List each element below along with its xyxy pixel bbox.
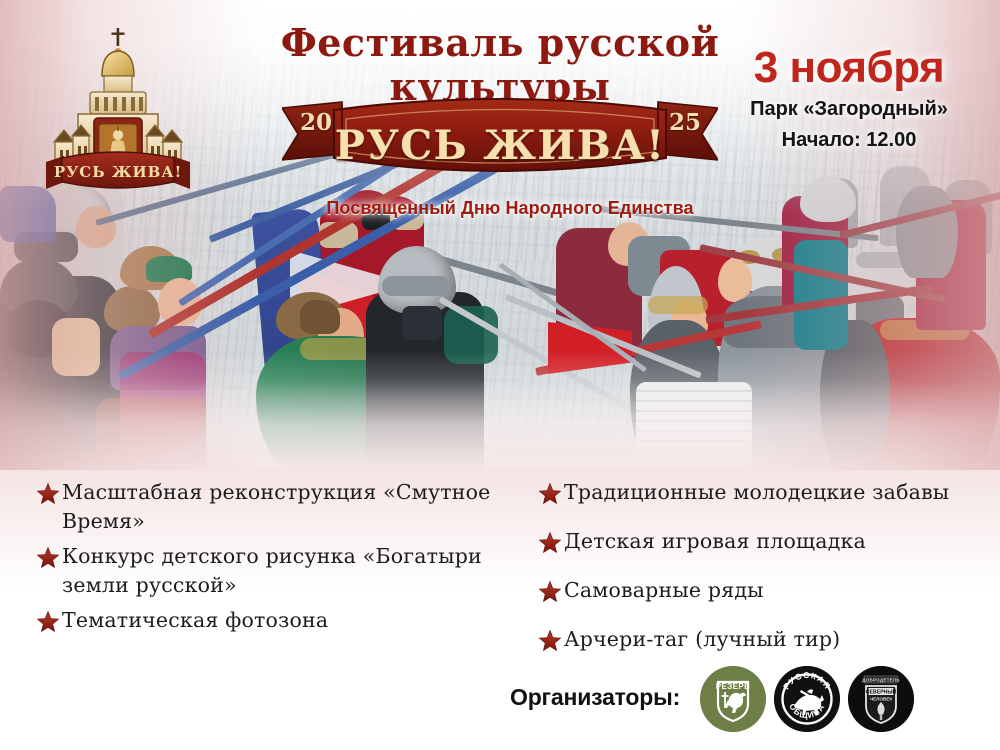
program-item-label: Конкурс детского рисунка «Богатыри земли… [62,542,506,600]
festival-emblem-logo: РУСЬ ЖИВА! [34,22,202,190]
organizer-logo-rezerv[interactable]: РЕЗЕРВ [700,666,766,732]
program-item-label: Арчери-таг (лучный тир) [564,625,840,654]
event-place: Парк «Загородный» [724,96,974,122]
red-star-icon [36,546,62,575]
program-item: Конкурс детского рисунка «Богатыри земли… [36,542,506,600]
red-star-icon [538,531,564,560]
program-item-label: Детская игровая площадка [564,527,866,556]
organizer-logo-rezerv-text: РЕЗЕРВ [716,682,751,691]
red-star-icon [36,482,62,511]
title-ribbon: 20 25 РУСЬ ЖИВА! [282,92,718,184]
red-star-icon [538,482,564,511]
organizer-logo-severny-text-2: ЧЕЛОВЕК [870,697,892,702]
headline-line-1: Фестиваль русской [250,24,750,62]
program-list: Масштабная реконструкция «Смутное Время»… [0,478,1000,658]
program-item: Детская игровая площадка [538,527,988,560]
emblem-banner-text: РУСЬ ЖИВА! [54,163,182,181]
church-cross-icon [112,28,125,46]
event-details-block: 3 ноября Парк «Загородный» Начало: 12.00 [724,46,974,153]
footer: Организаторы: РЕЗЕРВ [0,658,1000,750]
program-item: Самоварные ряды [538,576,988,609]
program-item: Масштабная реконструкция «Смутное Время» [36,478,506,536]
program-column-left: Масштабная реконструкция «Смутное Время»… [36,478,506,645]
event-time: Начало: 12.00 [724,127,974,153]
program-item: Арчери-таг (лучный тир) [538,625,988,658]
program-item: Тематическая фотозона [36,606,506,639]
organizer-logo-severny-text-1: СЕВЕРНЫЙ [866,688,897,696]
program-item-label: Тематическая фотозона [62,606,328,635]
organizers-label: Организаторы: [510,684,680,711]
program-item: Традиционные молодецкие забавы [538,478,988,511]
program-column-right: Традиционные молодецкие забавыДетская иг… [538,478,988,674]
organizer-logo-russkaya-obshchina[interactable]: РУССКАЯ ОБЩИНА [774,666,840,732]
organizer-logo-severny-chelovek[interactable]: ДОБРОДЕТЕЛЬ СЕВЕРНЫЙ ЧЕЛОВЕК [848,666,914,732]
program-item-label: Самоварные ряды [564,576,764,605]
festival-poster: РУСЬ ЖИВА! Фестиваль русской культуры [0,0,1000,750]
red-star-icon [538,629,564,658]
program-item-label: Традиционные молодецкие забавы [564,478,949,507]
event-date: 3 ноября [724,46,974,91]
red-star-icon [538,580,564,609]
red-star-icon [36,610,62,639]
organizer-logos: РЕЗЕРВ РУССКАЯ [700,666,914,732]
organizer-logo-severny-tagline: ДОБРОДЕТЕЛЬ [862,678,900,683]
program-item-label: Масштабная реконструкция «Смутное Время» [62,478,506,536]
ribbon-title: РУСЬ ЖИВА! [282,122,718,169]
subtitle: Посвященный Дню Народного Единства [250,198,770,219]
